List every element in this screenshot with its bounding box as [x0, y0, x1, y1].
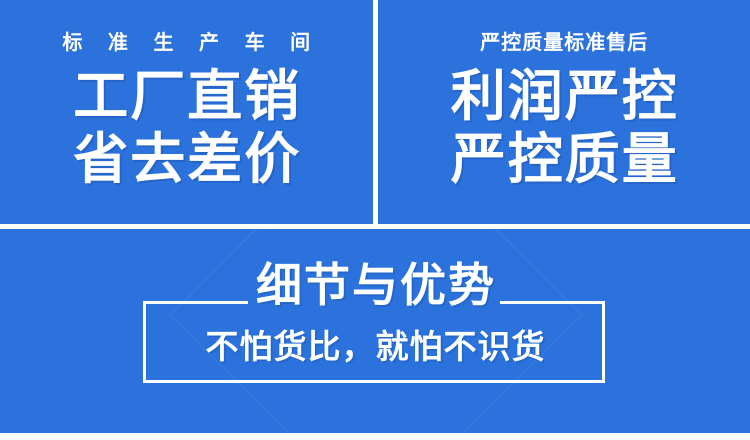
- panel-left-eyebrow: 标 准 生 产 车 间: [52, 33, 320, 53]
- bottom-panel-title: 细节与优势: [0, 262, 750, 308]
- bottom-panel-subtitle: 不怕货比，就怕不识货: [0, 330, 750, 363]
- panel-factory-direct-content: 标 准 生 产 车 间 工厂直销 省去差价: [0, 0, 373, 224]
- panel-details-advantages: 细节与优势 不怕货比，就怕不识货: [0, 229, 750, 433]
- panel-left-headline-line1: 工厂直销: [71, 65, 301, 128]
- panel-factory-direct: 标 准 生 产 车 间 工厂直销 省去差价: [0, 0, 373, 224]
- panel-right-eyebrow: 严控质量标准售后: [479, 33, 648, 53]
- panel-left-headline-line2: 省去差价: [71, 128, 301, 191]
- panel-right-headline-line2: 严控质量: [449, 128, 679, 191]
- top-panel-row: 标 准 生 产 车 间 工厂直销 省去差价 严控质量标准售后 利润严控 严控质量: [0, 0, 750, 224]
- promo-banner: 标 准 生 产 车 间 工厂直销 省去差价 严控质量标准售后 利润严控 严控质量…: [0, 0, 750, 440]
- panel-quality-control: 严控质量标准售后 利润严控 严控质量: [378, 0, 750, 224]
- panel-quality-control-content: 严控质量标准售后 利润严控 严控质量: [378, 0, 750, 224]
- panel-right-headline-line1: 利润严控: [449, 65, 679, 128]
